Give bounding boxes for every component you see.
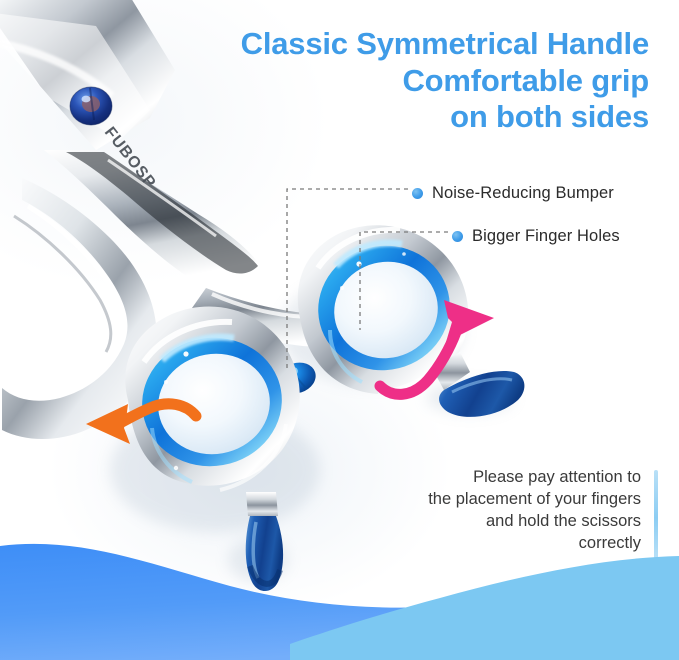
headline: Classic Symmetrical Handle Comfortable g… [179,26,649,136]
callout-dot-icon [412,188,423,199]
callout-noise-reducing-bumper: Noise-Reducing Bumper [412,184,614,203]
headline-line-3: on both sides [179,99,649,136]
callout-dot-icon [452,231,463,242]
caption-line-1: Please pay attention to [361,466,641,488]
tension-screw [70,87,112,125]
headline-line-1: Classic Symmetrical Handle [179,26,649,63]
bottom-wave-decoration [0,520,679,660]
callout-label: Noise-Reducing Bumper [432,184,614,203]
callout-bigger-finger-holes: Bigger Finger Holes [452,227,620,246]
caption-line-2: the placement of your fingers [361,488,641,510]
headline-line-2: Comfortable grip [179,63,649,100]
callout-label: Bigger Finger Holes [472,227,620,246]
product-feature-image: FUBOSP [0,0,679,660]
